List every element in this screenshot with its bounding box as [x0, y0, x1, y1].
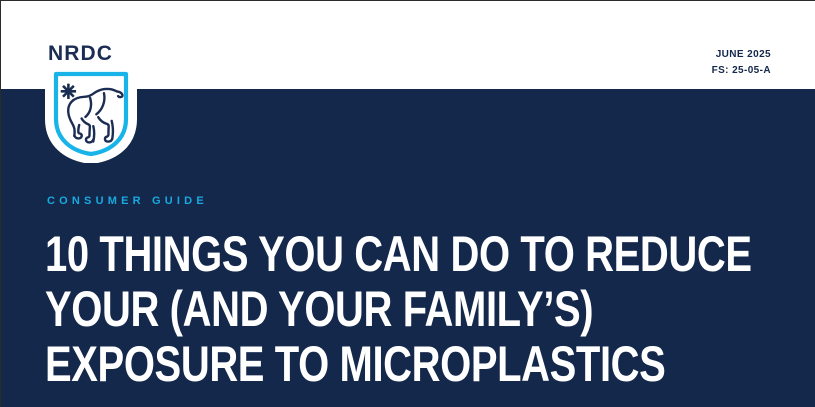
publication-meta: JUNE 2025 FS: 25-05-A — [712, 47, 771, 79]
eyebrow-label: CONSUMER GUIDE — [47, 194, 208, 208]
star-icon — [61, 84, 76, 99]
nrdc-polar-bear-shield-icon — [45, 67, 137, 163]
title-line-1: 10 THINGS YOU CAN DO TO REDUCE — [45, 227, 621, 282]
nrdc-wordmark: NRDC — [48, 43, 113, 65]
fact-sheet-id: FS: 25-05-A — [712, 63, 771, 79]
nrdc-logo[interactable]: NRDC — [45, 43, 137, 163]
title-line-2: YOUR (AND YOUR FAMILY’S) — [45, 282, 621, 337]
publication-date: JUNE 2025 — [712, 47, 771, 63]
title-line-3: EXPOSURE TO MICROPLASTICS — [45, 337, 621, 392]
fact-sheet-cover: JUNE 2025 FS: 25-05-A NRDC — [0, 0, 815, 407]
page-title: 10 THINGS YOU CAN DO TO REDUCE YOUR (AND… — [45, 227, 621, 392]
